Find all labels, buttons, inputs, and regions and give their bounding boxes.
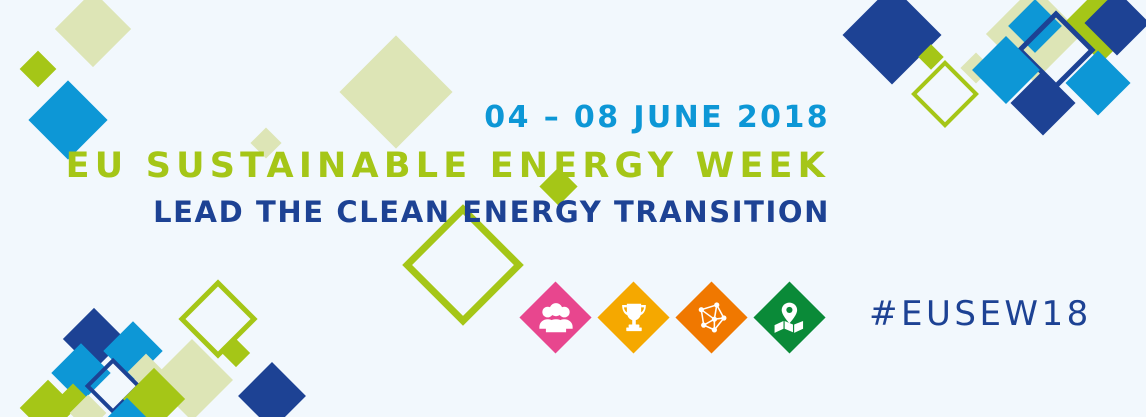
decorative-diamond — [1063, 0, 1131, 58]
decorative-diamond — [20, 380, 77, 417]
decorative-diamond — [972, 36, 1040, 104]
hashtag: #EUSEW18 — [869, 297, 1092, 331]
decorative-diamond — [178, 279, 257, 358]
trophy-glyph — [615, 299, 653, 337]
decorative-diamond — [1084, 0, 1146, 56]
decorative-diamond — [911, 60, 979, 128]
decorative-diamond — [55, 0, 131, 67]
decorative-diamond — [106, 398, 148, 417]
banner-text-block: 04 – 08 JUNE 2018 EU SUSTAINABLE ENERGY … — [0, 103, 830, 227]
decorative-diamond — [151, 339, 233, 417]
network-icon[interactable] — [675, 281, 748, 354]
decorative-diamond — [80, 41, 98, 59]
decorative-diamond — [1010, 70, 1075, 135]
decorative-diamond — [1091, 31, 1119, 59]
decorative-diamond — [85, 358, 142, 415]
decorative-diamond — [238, 362, 306, 417]
people-glyph — [537, 299, 575, 337]
decorative-diamond — [51, 343, 110, 402]
page-title: EU SUSTAINABLE ENERGY WEEK — [0, 149, 830, 184]
decorative-diamond — [1065, 50, 1130, 115]
decorative-diamond — [123, 368, 185, 417]
event-date: 04 – 08 JUNE 2018 — [0, 103, 830, 133]
decorative-diamond — [1008, 0, 1062, 53]
icon-row — [519, 281, 826, 354]
decorative-diamond — [222, 339, 250, 367]
decorative-diamond — [70, 395, 107, 417]
decorative-diamond — [986, 0, 1082, 82]
decorative-diamond — [57, 383, 88, 414]
trophy-icon[interactable] — [597, 281, 670, 354]
map-pin-icon[interactable] — [753, 281, 826, 354]
decorative-diamond — [843, 0, 942, 84]
page-subtitle: LEAD THE CLEAN ENERGY TRANSITION — [0, 198, 830, 227]
network-glyph — [693, 299, 731, 337]
decorative-diamond — [128, 354, 165, 391]
decorative-diamond — [918, 44, 943, 69]
decorative-diamond — [20, 51, 57, 88]
decorative-diamond — [103, 321, 162, 380]
decorative-diamond — [63, 308, 125, 370]
decorative-diamond — [1016, 10, 1095, 89]
map-pin-glyph — [771, 299, 809, 337]
people-icon[interactable] — [519, 281, 592, 354]
decorative-diamond — [960, 52, 991, 83]
eusew-banner: 04 – 08 JUNE 2018 EU SUSTAINABLE ENERGY … — [0, 0, 1146, 417]
